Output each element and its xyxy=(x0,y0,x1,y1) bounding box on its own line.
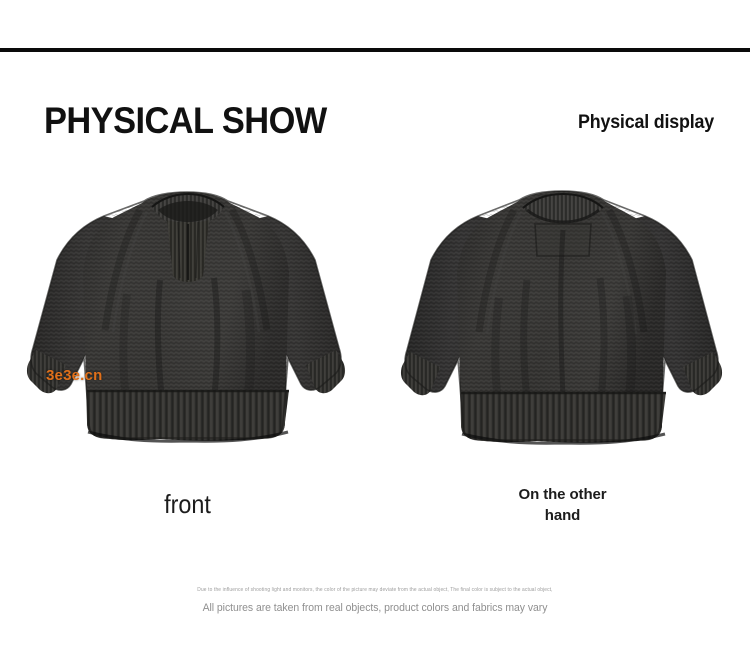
caption-back-line2: hand xyxy=(375,505,750,526)
product-image-front xyxy=(0,160,375,490)
caption-back-line1: On the other xyxy=(519,486,607,503)
site-watermark: 3e3e.cn xyxy=(46,368,102,384)
caption-front-view: front xyxy=(19,489,357,519)
disclaimer-note: All pictures are taken from real objects… xyxy=(19,600,732,616)
disclaimer-fine-print: Due to the influence of shooting light a… xyxy=(11,586,739,594)
product-image-back xyxy=(375,160,750,490)
page-subtitle: Physical display xyxy=(578,112,714,134)
page-title: PHYSICAL SHOW xyxy=(44,101,327,141)
caption-back-view: On the other hand xyxy=(375,484,750,526)
product-detail-page: PHYSICAL SHOW Physical display xyxy=(0,0,750,659)
header-divider xyxy=(0,48,750,52)
